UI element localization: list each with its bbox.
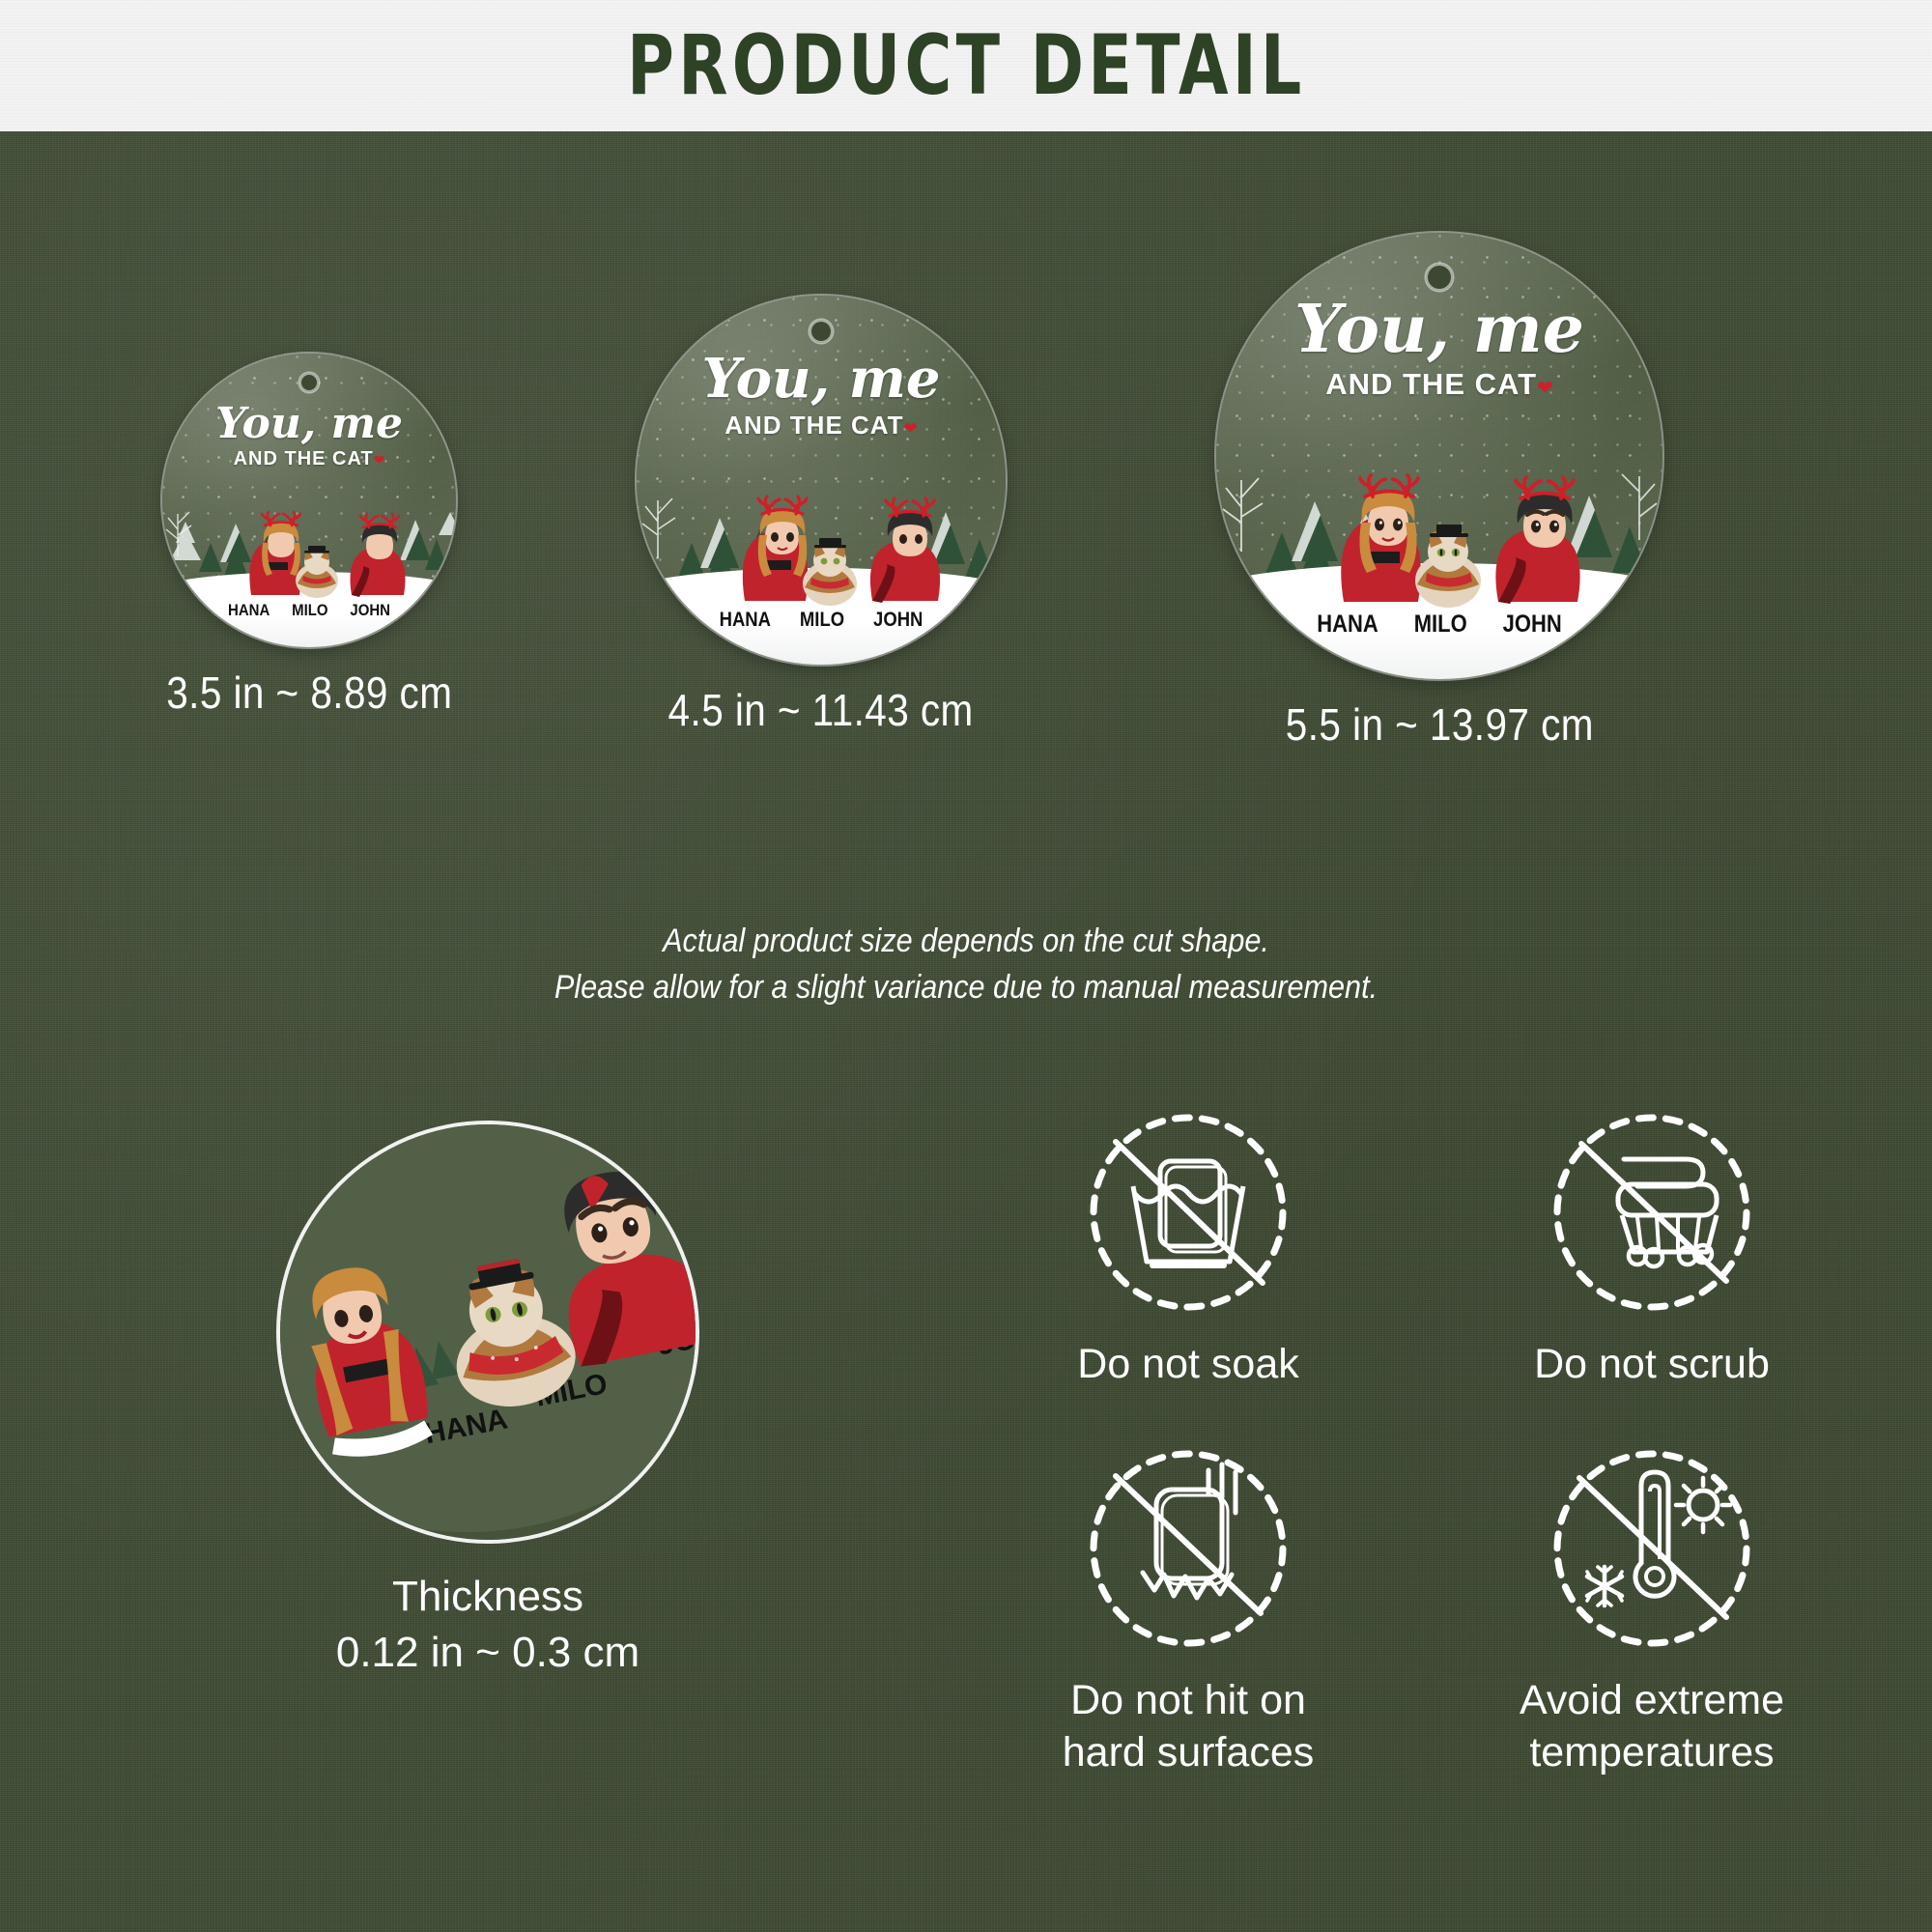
- name-pet: MILO: [800, 609, 844, 632]
- figure-cat: [803, 538, 857, 606]
- size-disclaimer: Actual product size depends on the cut s…: [97, 918, 1835, 1011]
- no-soak-icon: [1077, 1101, 1299, 1323]
- ornament-headline: You, me AND THE CAT❤: [1216, 298, 1662, 402]
- name-person-2: JOHN: [1503, 611, 1562, 639]
- heart-icon: ❤: [1537, 376, 1553, 400]
- size-label-large: 5.5 in ~ 13.97 cm: [1285, 698, 1593, 751]
- care-item-no-scrub: Do not scrub: [1430, 1101, 1874, 1391]
- script-line: You, me: [1216, 298, 1662, 361]
- thickness-section: HANA MILO JOH: [188, 1121, 787, 1681]
- ornament-preview-medium: You, me AND THE CAT❤ HANA MILO JOHN: [637, 296, 1006, 665]
- no-extreme-temperature-icon: [1541, 1437, 1763, 1660]
- no-scrub-icon: [1541, 1101, 1763, 1323]
- figure-man: [870, 498, 940, 603]
- ornament-size-large: You, me AND THE CAT❤ HANA MILO JOHN 5.5 …: [1212, 233, 1666, 751]
- script-line: You, me: [162, 404, 456, 444]
- heart-icon: ❤: [904, 419, 918, 439]
- disclaimer-line-2: Please allow for a slight variance due t…: [97, 964, 1835, 1010]
- care-label-no-impact-line1: Do not hit on: [1063, 1675, 1315, 1727]
- ornament-preview-small: You, me AND THE CAT❤ HANA MILO JOHN: [162, 354, 456, 647]
- care-item-no-extreme-temp: Avoid extreme temperatures: [1430, 1437, 1874, 1779]
- care-item-no-soak: Do not soak: [966, 1101, 1410, 1391]
- care-label-no-impact-line2: hard surfaces: [1063, 1727, 1315, 1779]
- no-impact-icon: [1077, 1437, 1299, 1660]
- name-person-1: HANA: [228, 601, 270, 620]
- figure-cat: [296, 546, 338, 598]
- thickness-magnifier: HANA MILO JOH: [276, 1121, 699, 1544]
- ornament-headline: You, me AND THE CAT❤: [162, 404, 456, 470]
- size-label-small: 3.5 in ~ 8.89 cm: [166, 667, 452, 719]
- ornament-size-medium: You, me AND THE CAT❤ HANA MILO JOHN 4.5 …: [633, 296, 1009, 736]
- thickness-caption: Thickness 0.12 in ~ 0.3 cm: [188, 1569, 787, 1681]
- product-detail-page: PRODUCT DETAIL: [0, 0, 1932, 1932]
- figure-woman: [743, 497, 808, 618]
- sub-line: AND THE CAT: [1325, 367, 1537, 401]
- ornament-names: HANA MILO JOHN: [180, 601, 439, 620]
- name-person-1: HANA: [1317, 611, 1378, 639]
- care-label-no-extreme-temp-line1: Avoid extreme: [1520, 1675, 1784, 1727]
- figure-man: [1495, 477, 1579, 604]
- name-pet: MILO: [1414, 611, 1467, 639]
- ornament-names: HANA MILO JOHN: [659, 609, 983, 632]
- care-label-no-impact: Do not hit on hard surfaces: [1063, 1675, 1315, 1779]
- care-label-no-scrub: Do not scrub: [1534, 1339, 1770, 1391]
- sub-line: AND THE CAT: [234, 448, 374, 469]
- thickness-value: 0.12 in ~ 0.3 cm: [188, 1625, 787, 1681]
- care-label-no-extreme-temp-line2: temperatures: [1520, 1727, 1784, 1779]
- page-header: PRODUCT DETAIL: [0, 0, 1932, 131]
- figure-cat: [1415, 525, 1481, 608]
- sub-line: AND THE CAT: [724, 411, 903, 440]
- care-label-no-soak: Do not soak: [1077, 1339, 1298, 1391]
- ornament-size-small: You, me AND THE CAT❤ HANA MILO JOHN 3.5 …: [150, 354, 469, 719]
- heart-icon: ❤: [374, 452, 385, 469]
- disclaimer-line-1: Actual product size depends on the cut s…: [97, 918, 1835, 964]
- ornament-size-row: You, me AND THE CAT❤ HANA MILO JOHN 3.5 …: [0, 131, 1932, 895]
- size-label-medium: 4.5 in ~ 11.43 cm: [668, 684, 974, 736]
- ornament-preview-large: You, me AND THE CAT❤ HANA MILO JOHN: [1216, 233, 1662, 679]
- ornament-names: HANA MILO JOHN: [1243, 611, 1636, 639]
- name-person-1: HANA: [720, 609, 771, 632]
- page-title: PRODUCT DETAIL: [627, 24, 1305, 107]
- script-line: You, me: [637, 354, 1006, 405]
- figure-woman: [249, 512, 301, 610]
- care-label-no-extreme-temp: Avoid extreme temperatures: [1520, 1675, 1784, 1779]
- figure-man: [351, 514, 406, 597]
- ornament-headline: You, me AND THE CAT❤: [637, 354, 1006, 440]
- thickness-title: Thickness: [188, 1569, 787, 1625]
- name-person-2: JOHN: [873, 609, 923, 632]
- care-instructions-grid: Do not soak: [966, 1101, 1874, 1778]
- name-pet: MILO: [292, 601, 327, 620]
- magnified-edge-view: HANA MILO JOH: [280, 1124, 696, 1540]
- name-person-2: JOHN: [350, 601, 390, 620]
- care-item-no-impact: Do not hit on hard surfaces: [966, 1437, 1410, 1779]
- figure-woman: [1341, 475, 1421, 623]
